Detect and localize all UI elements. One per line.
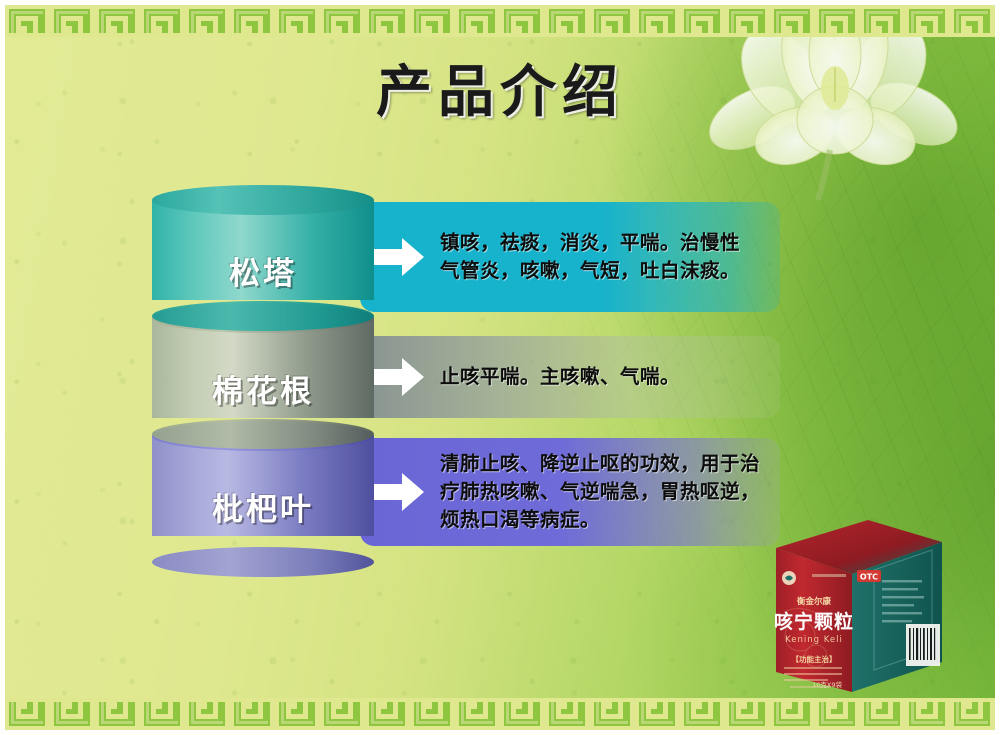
product-brand-text: 衡金尔康 [797,596,832,607]
cylinder-bottom-ellipse [152,301,374,331]
product-name-cn: 咳宁颗粒 [774,610,854,633]
top-border-pattern [5,5,995,37]
arrow-right-icon [372,470,426,514]
callout-panel-2[interactable]: 止咳平喘。主咳嗽、气喘。 [360,336,780,418]
cylinder-label-2: 棉花根 [152,366,374,411]
cylinder-ingredient-1[interactable]: 松塔 [152,186,374,316]
cylinder-top-ellipse [152,185,374,215]
barcode [906,624,940,666]
ingredient-cylinder-stack: 松塔 棉花根 枇杷叶 [152,186,374,542]
otc-badge: OTC [857,570,881,582]
svg-text:OTC: OTC [860,573,878,582]
cylinder-bottom-ellipse [152,419,374,449]
bottom-border-pattern [5,698,995,730]
callout-text-1: 镇咳，祛痰，消炎，平喘。治慢性 气管炎，咳嗽，气短，吐白沫痰。 [440,229,740,285]
callout-panel-1[interactable]: 镇咳，祛痰，消炎，平喘。治慢性 气管炎，咳嗽，气短，吐白沫痰。 [360,202,780,312]
product-name-pinyin: Kening Keli [785,635,843,645]
product-package-image[interactable]: OTC 衡金尔康 咳宁颗粒 Kening Keli 【功能主治】 10克X9袋 [756,504,956,704]
arrow-right-icon [372,235,426,279]
slide-canvas: 产品介绍 松塔 棉花根 枇杷叶 镇咳，祛痰，消炎，平喘。治慢性 [0,0,1000,735]
callout-text-2: 止咳平喘。主咳嗽、气喘。 [440,363,680,391]
cylinder-bottom-ellipse [152,547,374,577]
page-title: 产品介绍 [0,62,1000,124]
callout-panel-3[interactable]: 清肺止咳、降逆止呕的功效，用于治 疗肺热咳嗽、气逆喘急，胃热呕逆， 烦热口渴等病… [360,438,780,546]
callout-text-3: 清肺止咳、降逆止呕的功效，用于治 疗肺热咳嗽、气逆喘急，胃热呕逆， 烦热口渴等病… [440,450,760,534]
arrow-right-icon [372,355,426,399]
cylinder-label-3: 枇杷叶 [152,484,374,529]
brand-logo-icon [782,571,796,585]
cylinder-label-1: 松塔 [152,248,374,293]
product-section-label: 【功能主治】 [792,654,837,664]
